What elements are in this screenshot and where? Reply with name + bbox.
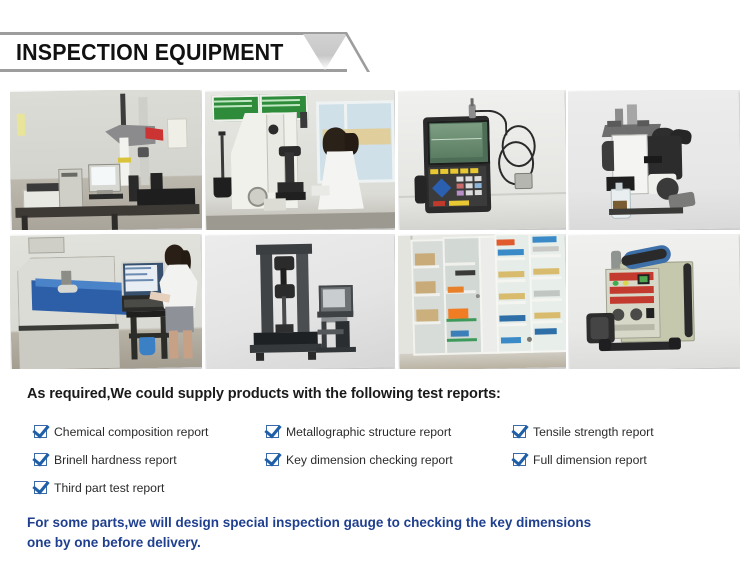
photo-gauge-storage-cabinets — [398, 234, 566, 369]
report-item-third-part-test: Third part test report — [34, 481, 164, 495]
photo-spectrometer-workstation — [10, 234, 202, 369]
report-item-brinell-hardness: Brinell hardness report — [34, 453, 177, 467]
gallery-cell-7 — [398, 234, 566, 369]
checkbox-icon — [513, 425, 526, 438]
equipment-photo-gallery — [8, 88, 744, 373]
report-item-full-dimension: Full dimension report — [513, 453, 647, 467]
gallery-cell-2 — [205, 90, 395, 230]
report-label: Key dimension checking report — [286, 453, 453, 467]
report-item-chemical-composition: Chemical composition report — [34, 425, 208, 439]
gallery-cell-5 — [10, 234, 202, 369]
report-label: Tensile strength report — [533, 425, 654, 439]
report-label: Chemical composition report — [54, 425, 208, 439]
gallery-cell-8 — [568, 234, 740, 369]
photo-universal-testing-machine — [205, 234, 395, 369]
page-title: INSPECTION EQUIPMENT — [16, 32, 284, 72]
checkbox-icon — [266, 453, 279, 466]
special-gauge-note: For some parts,we will design special in… — [27, 513, 717, 553]
photo-ultrasonic-flaw-detector — [398, 90, 566, 230]
note-line-2: one by one before delivery. — [27, 533, 717, 553]
gallery-cell-3 — [398, 90, 566, 230]
report-item-metallographic-structure: Metallographic structure report — [266, 425, 451, 439]
checkbox-icon — [34, 425, 47, 438]
report-item-tensile-strength: Tensile strength report — [513, 425, 654, 439]
banner-diagonal-edge — [344, 32, 370, 72]
checkbox-icon — [266, 425, 279, 438]
note-line-1: For some parts,we will design special in… — [27, 513, 717, 533]
gallery-cell-1 — [10, 90, 202, 230]
report-label: Full dimension report — [533, 453, 647, 467]
page-header-banner: INSPECTION EQUIPMENT — [0, 32, 750, 72]
photo-hardness-tester-operator — [205, 90, 395, 230]
photo-portable-xray-flaw-detector — [568, 234, 740, 369]
report-label: Metallographic structure report — [286, 425, 451, 439]
gallery-cell-4 — [568, 90, 740, 230]
checkbox-icon — [513, 453, 526, 466]
checkbox-icon — [34, 453, 47, 466]
report-item-key-dimension-checking: Key dimension checking report — [266, 453, 453, 467]
checkbox-icon — [34, 481, 47, 494]
photo-metallurgical-microscope — [568, 90, 740, 230]
gallery-cell-6 — [205, 234, 395, 369]
report-label: Brinell hardness report — [54, 453, 177, 467]
reports-heading: As required,We could supply products wit… — [27, 386, 501, 402]
photo-cmm-measuring-lab — [10, 90, 202, 230]
report-label: Third part test report — [54, 481, 164, 495]
